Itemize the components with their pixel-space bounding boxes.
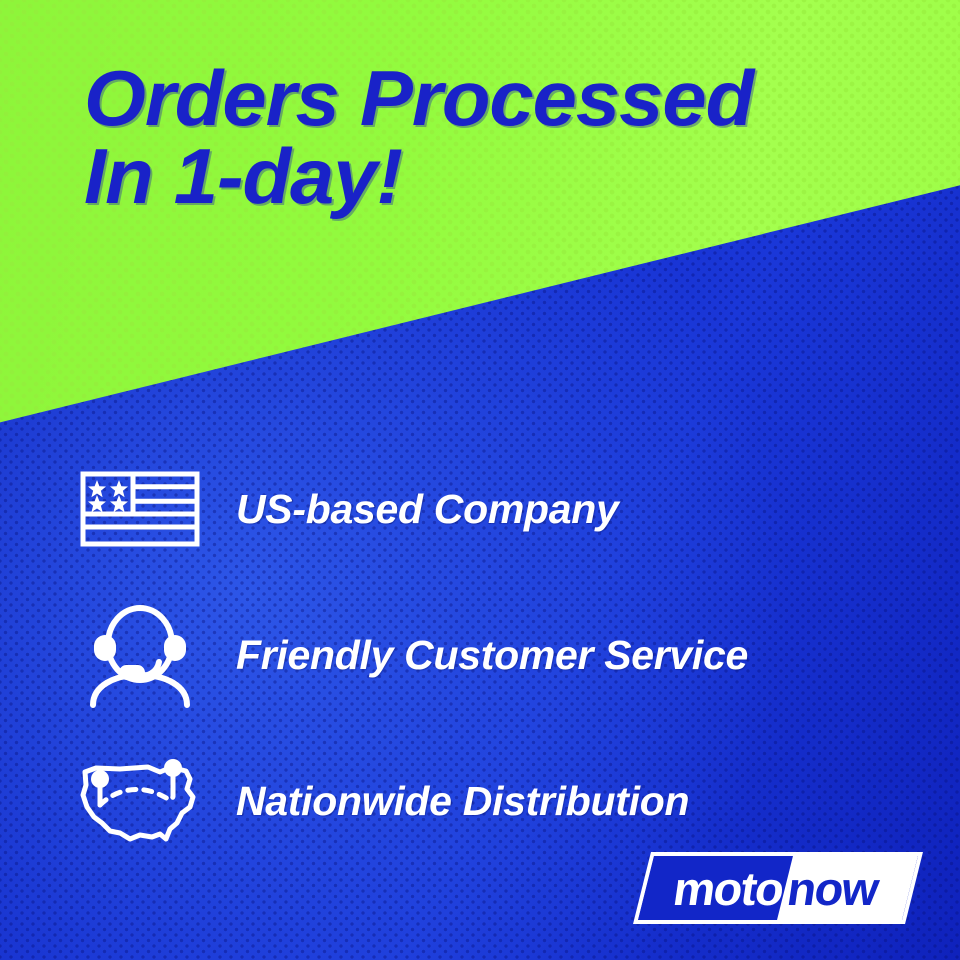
headline-line-2: In 1-day! bbox=[84, 138, 931, 214]
feature-label-us-based: US-based Company bbox=[236, 486, 619, 533]
feature-item-us-based: US-based Company bbox=[70, 436, 900, 582]
headset-support-icon bbox=[70, 603, 210, 707]
headline: Orders Processed In 1-day! bbox=[84, 60, 914, 215]
feature-item-customer-service: Friendly Customer Service bbox=[70, 582, 900, 728]
headline-line-1: Orders Processed bbox=[84, 60, 931, 136]
feature-label-customer-service: Friendly Customer Service bbox=[236, 632, 748, 679]
promo-banner: Orders Processed In 1-day! bbox=[0, 0, 960, 960]
feature-label-nationwide: Nationwide Distribution bbox=[236, 778, 689, 825]
logo-right-panel: now bbox=[777, 856, 918, 920]
logo-word-now: now bbox=[785, 865, 881, 912]
us-flag-icon bbox=[70, 457, 210, 561]
logo-left-panel: moto bbox=[638, 856, 793, 920]
logo-word-moto: moto bbox=[671, 865, 787, 912]
feature-list: US-based Company Friendly bbox=[70, 436, 900, 874]
usa-map-route-icon bbox=[70, 749, 210, 853]
motonow-logo[interactable]: moto now bbox=[633, 852, 923, 924]
